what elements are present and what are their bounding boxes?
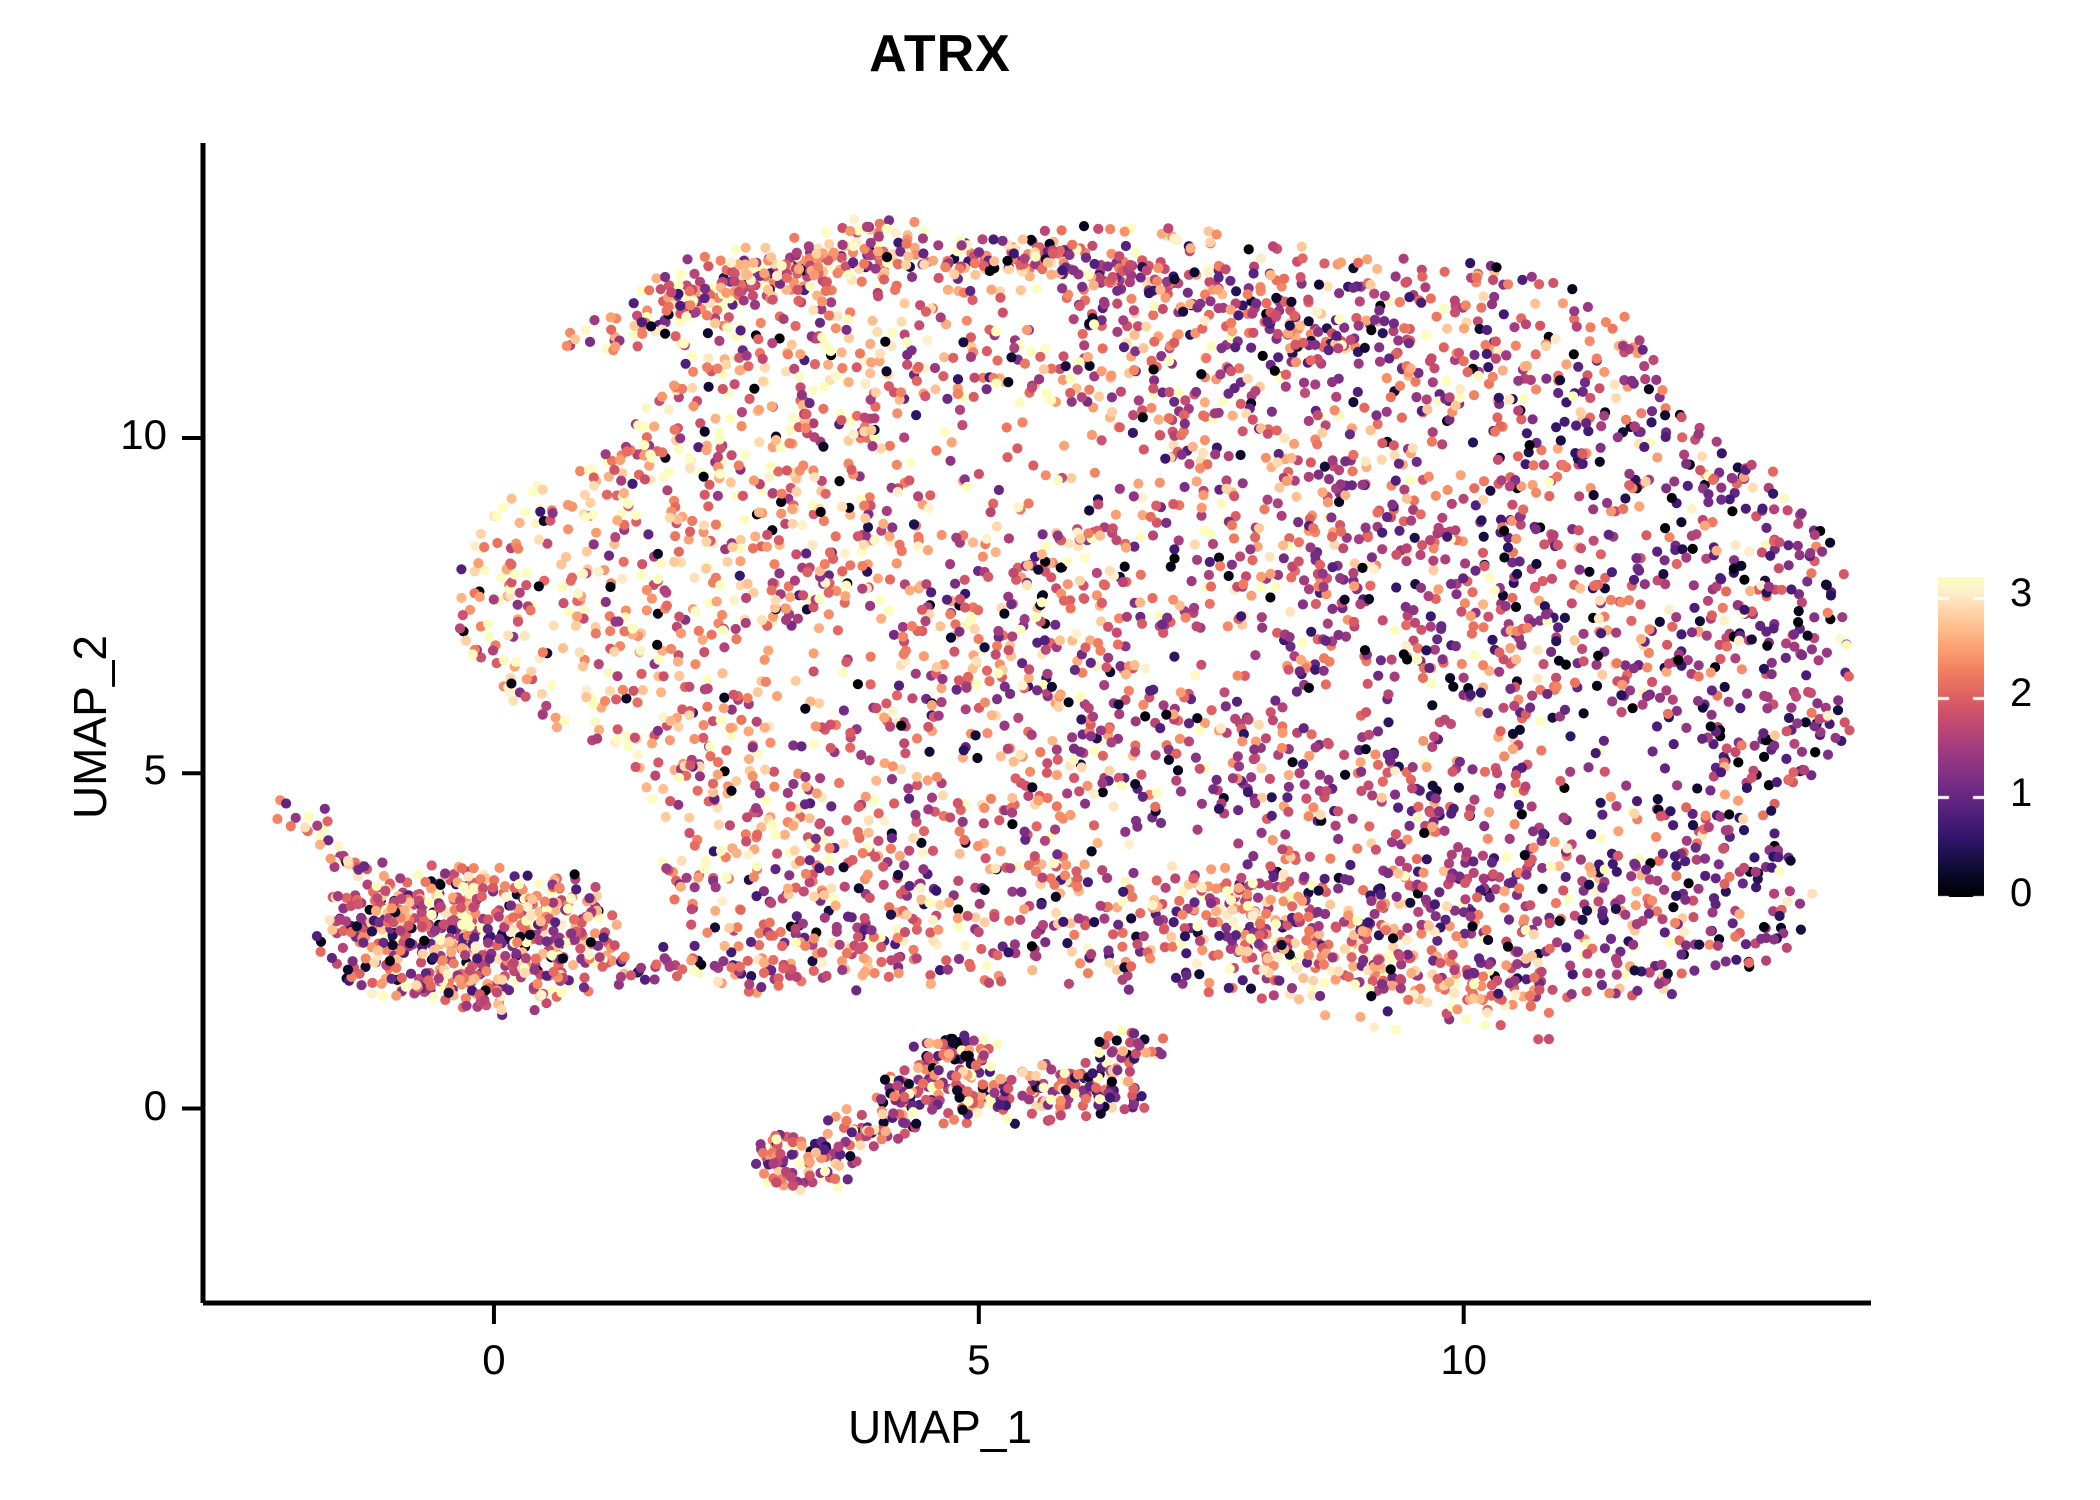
- y-tick-label-0: 0: [47, 1082, 167, 1130]
- colorbar-label-3: 3: [2010, 571, 2090, 616]
- x-axis-title: UMAP_1: [0, 1400, 1880, 1454]
- colorbar-label-1: 1: [2010, 771, 2090, 816]
- colorbar-gradient: [1938, 577, 1984, 897]
- y-axis-ticks: [182, 438, 203, 1109]
- data-points-layer: [272, 214, 1854, 1195]
- x-axis-ticks: [494, 1303, 1464, 1324]
- y-tick-label-10: 10: [47, 411, 167, 459]
- x-tick-label-5: 5: [919, 1336, 1039, 1384]
- y-axis-title: UMAP_2: [63, 477, 117, 977]
- scatter-plot-canvas: [0, 0, 2100, 1500]
- x-tick-label-0: 0: [434, 1336, 554, 1384]
- chart-figure: ATRX 0 5 10 0 5 10 UMAP_1 UMAP_2 3 2 1 0: [0, 0, 2100, 1500]
- colorbar-label-2: 2: [2010, 671, 2090, 716]
- colorbar-label-0: 0: [2010, 871, 2090, 916]
- x-tick-label-10: 10: [1404, 1336, 1524, 1384]
